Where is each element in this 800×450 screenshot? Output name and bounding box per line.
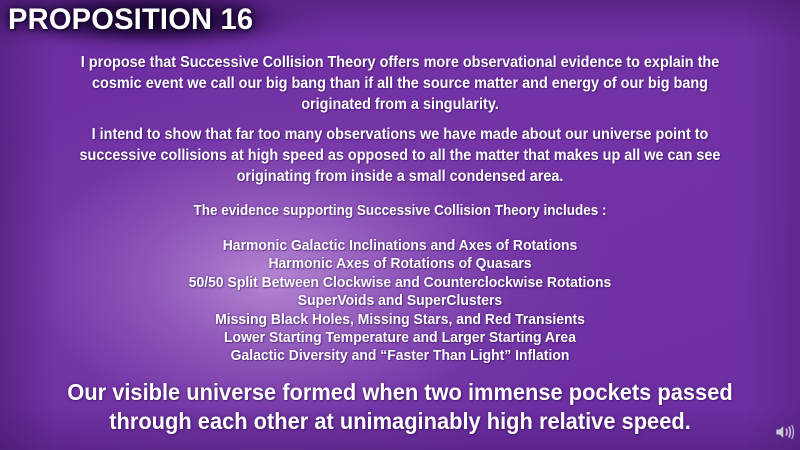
list-item: Missing Black Holes, Missing Stars, and …	[65, 311, 735, 329]
list-item: SuperVoids and SuperClusters	[65, 292, 735, 310]
speaker-audio-icon[interactable]	[774, 422, 796, 442]
list-item: Harmonic Galactic Inclinations and Axes …	[65, 237, 735, 255]
page-title: PROPOSITION 16	[8, 4, 253, 36]
list-item: Galactic Diversity and “Faster Than Ligh…	[65, 347, 735, 365]
proposition-paragraph-1: I propose that Successive Collision Theo…	[75, 52, 726, 115]
presentation-slide: PROPOSITION 16 I propose that Successive…	[0, 0, 800, 450]
evidence-list: Harmonic Galactic Inclinations and Axes …	[40, 237, 760, 366]
list-item: 50/50 Split Between Clockwise and Counte…	[65, 274, 735, 292]
list-item: Harmonic Axes of Rotations of Quasars	[65, 255, 735, 273]
evidence-heading: The evidence supporting Successive Colli…	[75, 201, 726, 221]
list-item: Lower Starting Temperature and Larger St…	[65, 329, 735, 347]
proposition-paragraph-2: I intend to show that far too many obser…	[75, 124, 726, 187]
conclusion-statement: Our visible universe formed when two imm…	[30, 378, 771, 436]
